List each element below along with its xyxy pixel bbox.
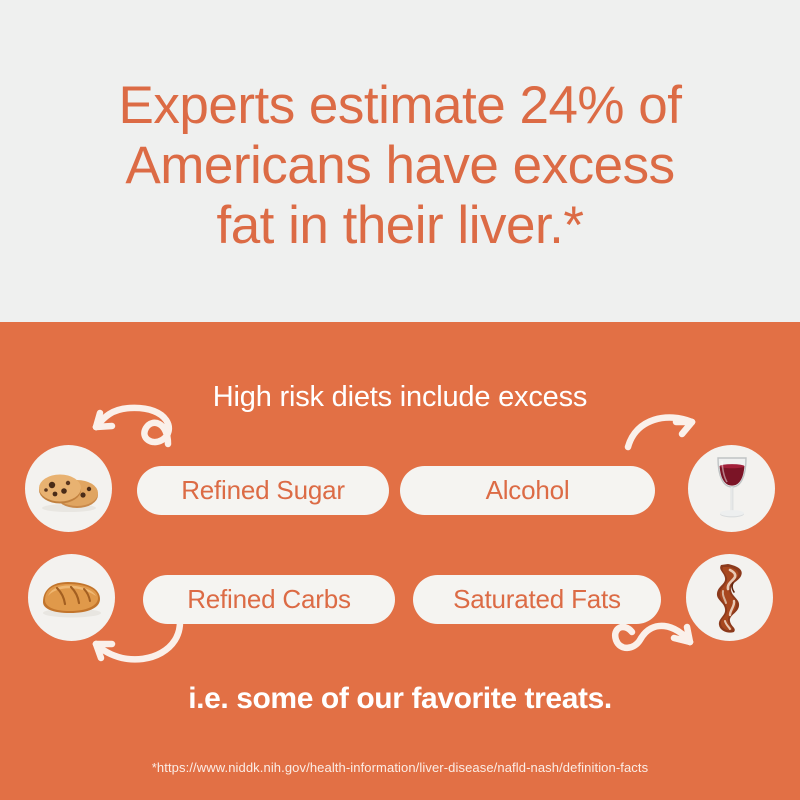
bread-loaf-icon (37, 575, 107, 621)
source-footnote: *https://www.niddk.nih.gov/health-inform… (0, 760, 800, 775)
risk-pill-saturated-fats[interactable]: Saturated Fats (413, 575, 661, 624)
risk-pill-alcohol[interactable]: Alcohol (400, 466, 655, 515)
infographic-root: Experts estimate 24% of Americans have e… (0, 0, 800, 800)
section-subheading: High risk diets include excess (0, 381, 800, 414)
risk-pill-label: Refined Carbs (187, 584, 351, 615)
icon-circle-saturated-fats (686, 554, 773, 641)
page-title: Experts estimate 24% of Americans have e… (59, 76, 742, 256)
headline-line-1: Experts estimate 24% of (119, 76, 682, 136)
icon-circle-refined-sugar (25, 445, 112, 532)
risk-pill-refined-carbs[interactable]: Refined Carbs (143, 575, 395, 624)
wine-glass-icon (710, 454, 754, 524)
risk-diets-section: High risk diets include excess (0, 322, 800, 800)
cookie-icon (35, 465, 103, 513)
tagline: i.e. some of our favorite treats. (0, 682, 800, 716)
risk-pill-refined-sugar[interactable]: Refined Sugar (137, 466, 389, 515)
bacon-icon (708, 561, 752, 635)
headline-section: Experts estimate 24% of Americans have e… (0, 0, 800, 322)
icon-circle-alcohol (688, 445, 775, 532)
headline-line-2: Americans have excess (119, 136, 682, 196)
risk-pill-label: Saturated Fats (453, 584, 621, 615)
icon-circle-refined-carbs (28, 554, 115, 641)
risk-pill-label: Refined Sugar (181, 475, 345, 506)
risk-pill-label: Alcohol (486, 475, 570, 506)
headline-line-3: fat in their liver.* (119, 196, 682, 256)
